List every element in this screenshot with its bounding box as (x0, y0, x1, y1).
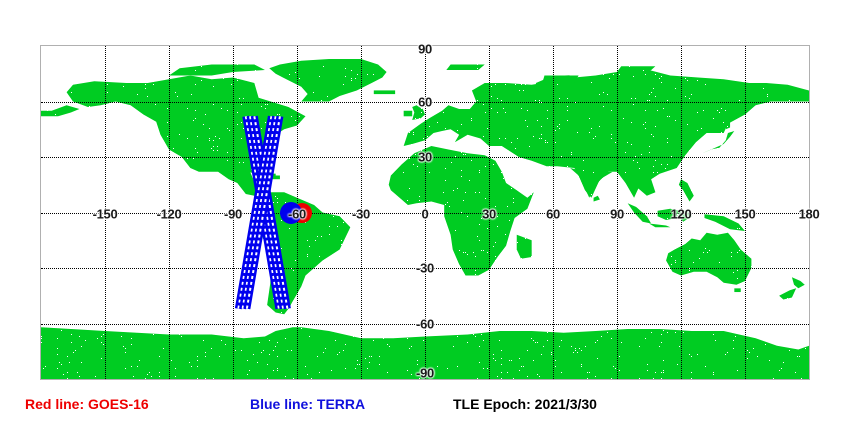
lon-tick-120: 120 (671, 206, 692, 221)
lon-tick--150: -150 (93, 206, 118, 221)
lat-tick--30: -30 (416, 261, 434, 276)
lon-tick-150: 150 (735, 206, 756, 221)
legend-goes16: Red line: GOES-16 (25, 396, 149, 412)
legend-terra: Blue line: TERRA (250, 396, 365, 412)
lat-tick--60: -60 (416, 316, 434, 331)
legend-tle-epoch: TLE Epoch: 2021/3/30 (453, 396, 597, 412)
lat-tick--90: -90 (416, 366, 434, 381)
lon-tick-60: 60 (546, 206, 560, 221)
lon-tick--60: -60 (288, 206, 306, 221)
lon-tick--90: -90 (224, 206, 242, 221)
lon-tick--120: -120 (157, 206, 182, 221)
lat-tick-30: 30 (418, 150, 432, 165)
lon-tick-0: 0 (422, 206, 429, 221)
satellite-ground-track-map: -300306090120150180-150-120-90-60906030-… (0, 0, 850, 425)
lon-tick-180: 180 (799, 206, 820, 221)
lat-tick-90: 90 (418, 42, 432, 57)
lat-tick-60: 60 (418, 94, 432, 109)
map-caption: Red line: GOES-16 Blue line: TERRA TLE E… (0, 396, 850, 420)
lon-tick--30: -30 (352, 206, 370, 221)
lon-tick-90: 90 (610, 206, 624, 221)
lon-tick-30: 30 (482, 206, 496, 221)
